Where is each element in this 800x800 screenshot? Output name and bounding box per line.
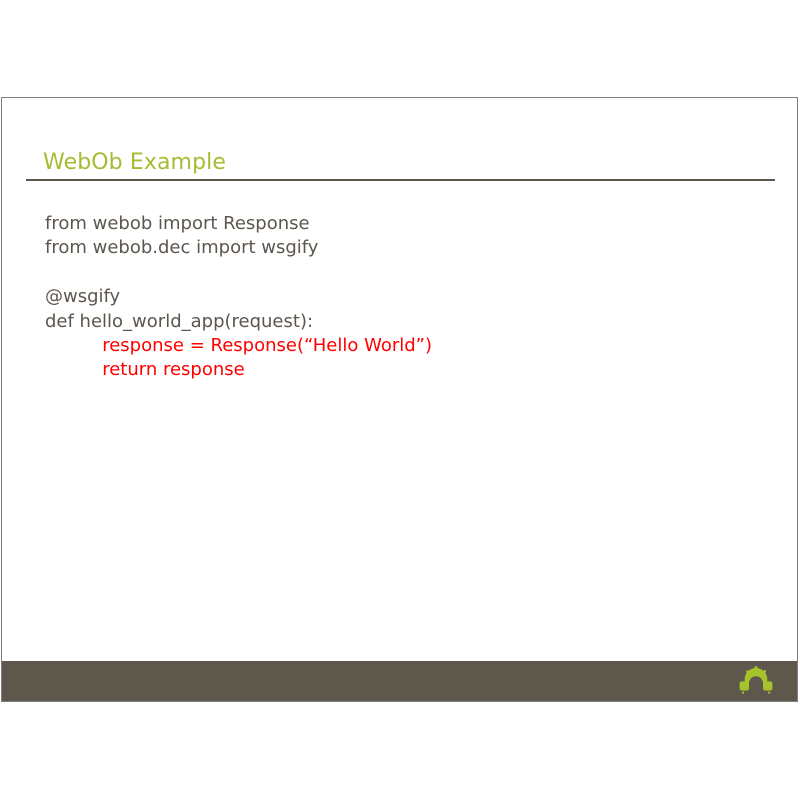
slide-canvas: WebOb Example from webob import Response… bbox=[1, 97, 798, 702]
code-line: def hello_world_app(request): bbox=[45, 310, 745, 334]
slide-title: WebOb Example bbox=[43, 150, 226, 176]
title-underline-rule bbox=[26, 179, 775, 181]
pyramid-arch-logo-icon bbox=[739, 666, 773, 695]
code-line bbox=[45, 261, 745, 285]
code-line: from webob import Response bbox=[45, 212, 745, 236]
slide-footer-bar bbox=[2, 661, 797, 701]
code-block: from webob import Responsefrom webob.dec… bbox=[45, 212, 745, 383]
code-line: @wsgify bbox=[45, 285, 745, 309]
code-line: from webob.dec import wsgify bbox=[45, 236, 745, 260]
code-line: return response bbox=[45, 358, 745, 382]
code-line: response = Response(“Hello World”) bbox=[45, 334, 745, 358]
